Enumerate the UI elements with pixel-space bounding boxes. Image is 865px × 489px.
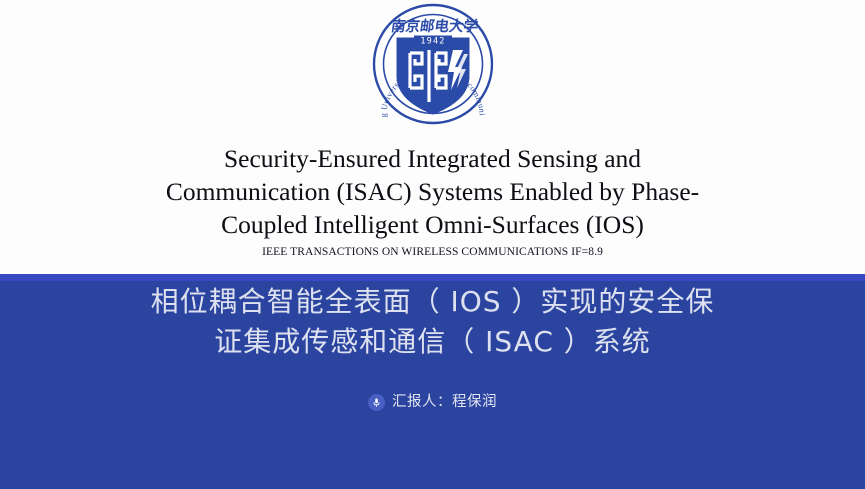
- page-title: Security-Ensured Integrated Sensing and …: [0, 142, 865, 260]
- chinese-title-line-2: 证集成传感和通信（ ISAC ）系统: [0, 322, 865, 362]
- title-slide: Nanjing University of Posts and Telecomm…: [0, 0, 865, 489]
- microphone-glyph: [371, 397, 382, 408]
- title-line-2: Communication (ISAC) Systems Enabled by …: [0, 175, 865, 208]
- presenter-row: 汇报人：程保润: [0, 392, 865, 412]
- chinese-title-line-1: 相位耦合智能全表面（ IOS ）实现的安全保: [0, 282, 865, 322]
- svg-text:南京邮电大学: 南京邮电大学: [389, 17, 479, 35]
- title-slide-header: Nanjing University of Posts and Telecomm…: [0, 0, 865, 275]
- chinese-title: 相位耦合智能全表面（ IOS ）实现的安全保 证集成传感和通信（ ISAC ）系…: [0, 282, 865, 362]
- microphone-icon: [368, 394, 385, 411]
- university-logo: Nanjing University of Posts and Telecomm…: [0, 2, 865, 138]
- njupt-emblem-icon: Nanjing University of Posts and Telecomm…: [367, 2, 499, 136]
- band-accent-stripe: [0, 274, 865, 281]
- journal-note: IEEE TRANSACTIONS ON WIRELESS COMMUNICAT…: [0, 244, 865, 260]
- title-line-1: Security-Ensured Integrated Sensing and: [0, 142, 865, 175]
- presenter-label: 汇报人：程保润: [392, 392, 497, 412]
- title-line-3: Coupled Intelligent Omni-Surfaces (IOS): [0, 208, 865, 241]
- svg-text:1942: 1942: [420, 37, 445, 47]
